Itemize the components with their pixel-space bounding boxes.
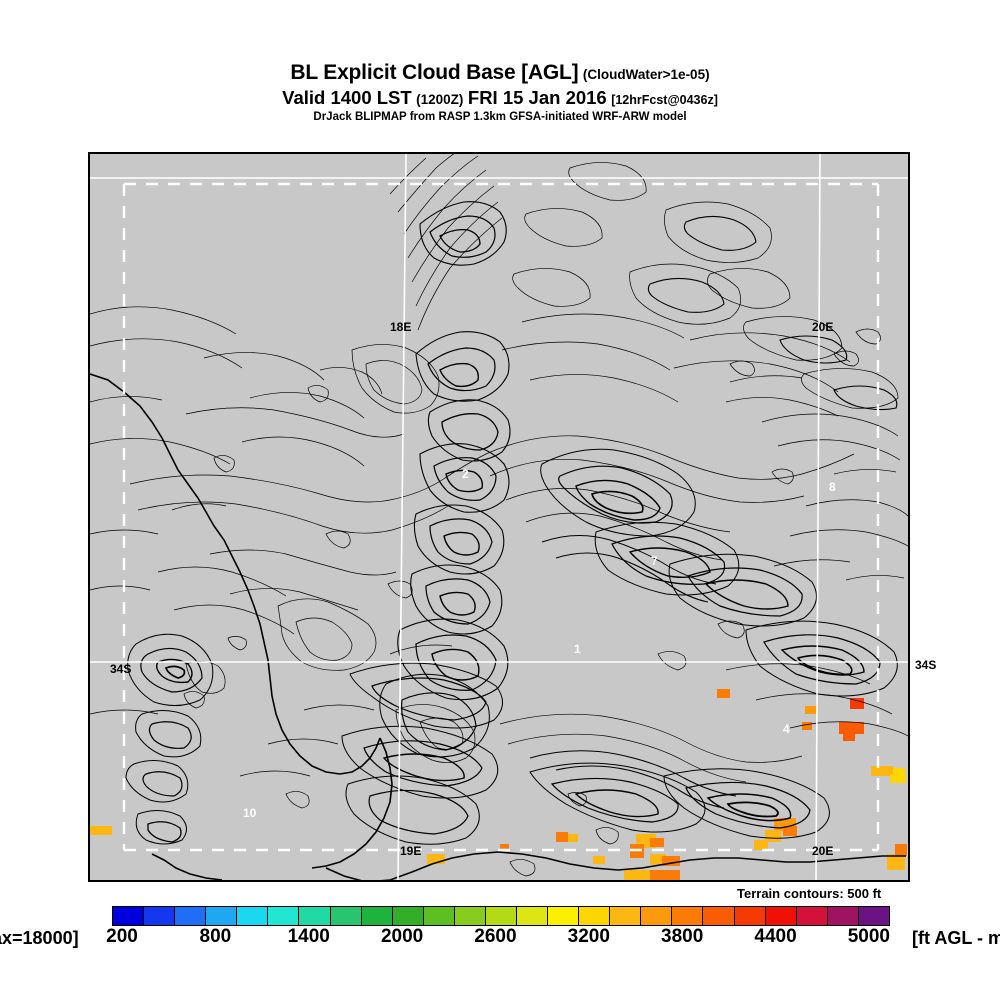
lat-label-34s-right: 34S (915, 658, 936, 672)
colorbar-tick-3800: 3800 (661, 926, 703, 948)
graticule-dashed (124, 184, 878, 850)
region-label-2: 2 (462, 467, 469, 481)
title-line-1: BL Explicit Cloud Base [AGL] (CloudWater… (0, 62, 1000, 85)
forecast-map[interactable]: 18E 20E 19E 20E 2 7 8 1 4 10 (88, 152, 910, 882)
colorbar-cell-23 (828, 907, 859, 925)
colorbar-cell-21 (766, 907, 797, 925)
lon-label-18e: 18E (390, 320, 411, 334)
chart-title-block: BL Explicit Cloud Base [AGL] (CloudWater… (0, 62, 1000, 123)
title-line-2: Valid 1400 LST (1200Z) FRI 15 Jan 2016 [… (0, 88, 1000, 108)
colorbar-cell-10 (424, 907, 455, 925)
graticule-solid (90, 154, 908, 880)
colorbar-tick-5000: 5000 (848, 926, 890, 948)
forecast-tag: [12hrFcst@0436z] (611, 93, 718, 107)
colorbar-tick-200: 200 (106, 926, 138, 948)
colorbar-tick-800: 800 (200, 926, 232, 948)
lon-label-20e-top: 20E (812, 320, 833, 334)
colorbar-cell-4 (237, 907, 268, 925)
colorbar-cell-7 (331, 907, 362, 925)
colorbar-cell-16 (610, 907, 641, 925)
colorbar-tick-2600: 2600 (474, 926, 516, 948)
colorbar-cell-18 (672, 907, 703, 925)
colorbar-cell-13 (517, 907, 548, 925)
region-label-4: 4 (783, 722, 790, 736)
colorbar-cell-12 (486, 907, 517, 925)
lat-label-34s-left: 34S (110, 662, 131, 676)
colorbar-cell-1 (144, 907, 175, 925)
colorbar-cell-11 (455, 907, 486, 925)
map-canvas (90, 154, 908, 880)
region-label-10: 10 (243, 806, 256, 820)
colorbar-units-label: [ft AGL - m (912, 928, 1000, 949)
colorbar-cell-19 (703, 907, 734, 925)
colorbar-cell-20 (735, 907, 766, 925)
colorbar-cell-14 (548, 907, 579, 925)
valid-time-zulu: (1200Z) (416, 92, 463, 107)
colorbar-cell-15 (579, 907, 610, 925)
colorbar-tick-3200: 3200 (568, 926, 610, 948)
colorbar-cell-17 (641, 907, 672, 925)
colorbar-max-label: ax=18000] (0, 928, 79, 949)
colorbar-tick-labels: 2008001400200026003200380044005000 (112, 926, 890, 954)
model-attribution: DrJack BLIPMAP from RASP 1.3km GFSA-init… (0, 111, 1000, 123)
colorbar-cell-2 (175, 907, 206, 925)
region-label-8: 8 (829, 480, 836, 494)
page-title: BL Explicit Cloud Base [AGL] (290, 61, 578, 84)
valid-date: FRI 15 Jan 2016 (468, 87, 607, 108)
colorbar-cell-9 (393, 907, 424, 925)
colorbar-cell-24 (859, 907, 889, 925)
colorbar-cell-0 (113, 907, 144, 925)
valid-time: Valid 1400 LST (282, 87, 412, 108)
region-label-1: 1 (574, 642, 581, 656)
region-label-7: 7 (651, 554, 658, 568)
lon-label-20e-bottom: 20E (812, 844, 833, 858)
colorbar[interactable] (112, 906, 890, 926)
colorbar-cell-22 (797, 907, 828, 925)
terrain-contours (90, 154, 908, 880)
colorbar-cell-5 (268, 907, 299, 925)
terrain-contour-note: Terrain contours: 500 ft (737, 886, 881, 901)
title-condition: (CloudWater>1e-05) (583, 67, 710, 82)
colorbar-tick-1400: 1400 (288, 926, 330, 948)
colorbar-cell-8 (362, 907, 393, 925)
colorbar-tick-4400: 4400 (754, 926, 796, 948)
colorbar-tick-2000: 2000 (381, 926, 423, 948)
colorbar-cell-3 (206, 907, 237, 925)
colorbar-cell-6 (299, 907, 330, 925)
lon-label-19e-bottom: 19E (400, 844, 421, 858)
